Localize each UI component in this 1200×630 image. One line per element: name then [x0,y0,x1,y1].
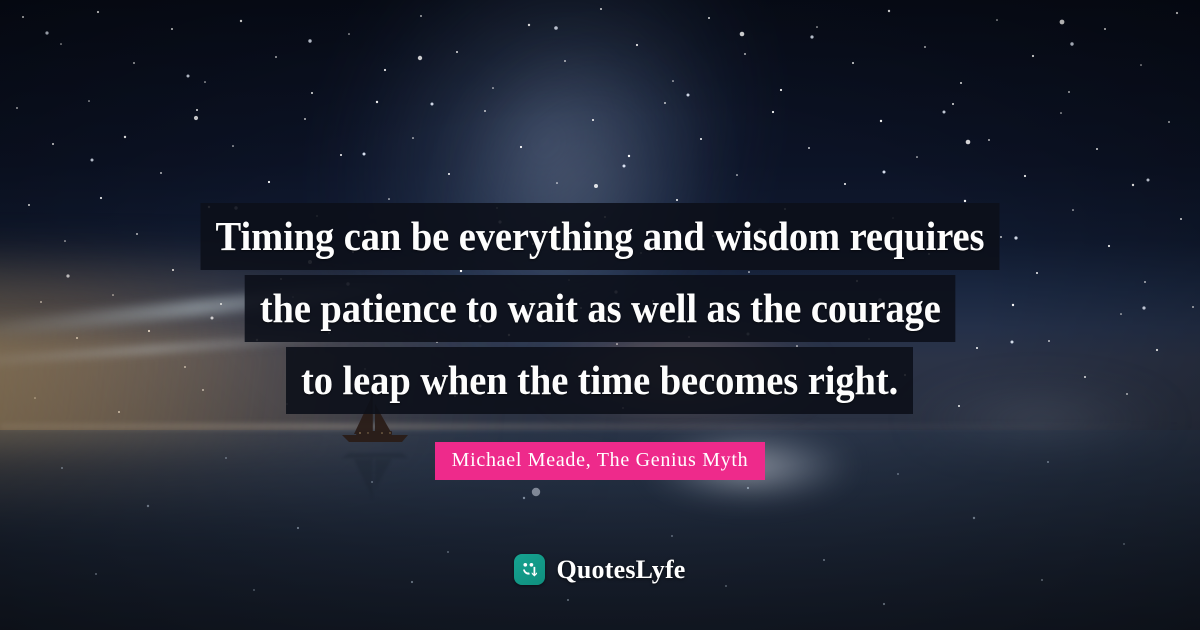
brand-name: QuotesLyfe [556,555,685,585]
quotes-logo-icon [514,554,545,585]
quote-marks-glyph [519,559,540,580]
quote-attribution: Michael Meade, The Genius Myth [435,442,766,480]
quote-line-1: Timing can be everything and wisdom requ… [201,203,1000,270]
quote-block: Timing can be everything and wisdom requ… [0,203,1200,480]
quote-line-3: to leap when the time becomes right. [286,347,913,414]
quote-image-canvas: Timing can be everything and wisdom requ… [0,0,1200,630]
quote-line-2: the patience to wait as well as the cour… [244,275,955,342]
brand-footer[interactable]: QuotesLyfe [0,554,1200,585]
attribution-row: Michael Meade, The Genius Myth [435,442,766,480]
